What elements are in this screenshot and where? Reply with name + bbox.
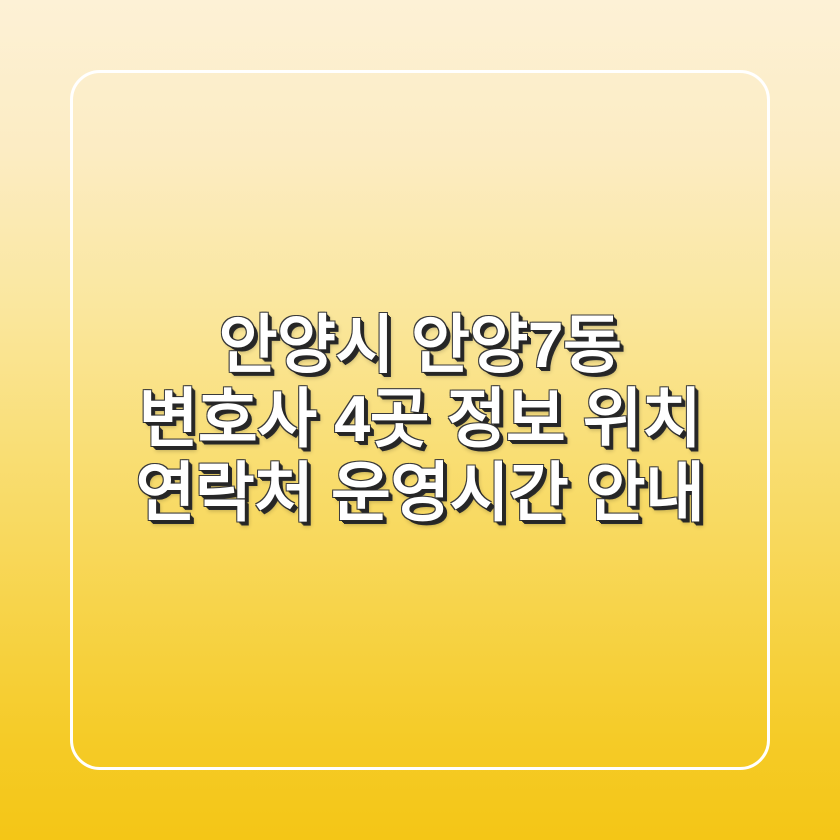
thumbnail-card: 안양시 안양7동 변호사 4곳 정보 위치 연락처 운영시간 안내 [0, 0, 840, 840]
headline-line-1: 안양시 안양7동 [84, 309, 756, 382]
headline-line-3: 연락처 운영시간 안내 [84, 456, 756, 530]
headline-line-2: 변호사 4곳 정보 위치 [84, 382, 756, 456]
headline-block: 안양시 안양7동 변호사 4곳 정보 위치 연락처 운영시간 안내 [0, 0, 840, 840]
